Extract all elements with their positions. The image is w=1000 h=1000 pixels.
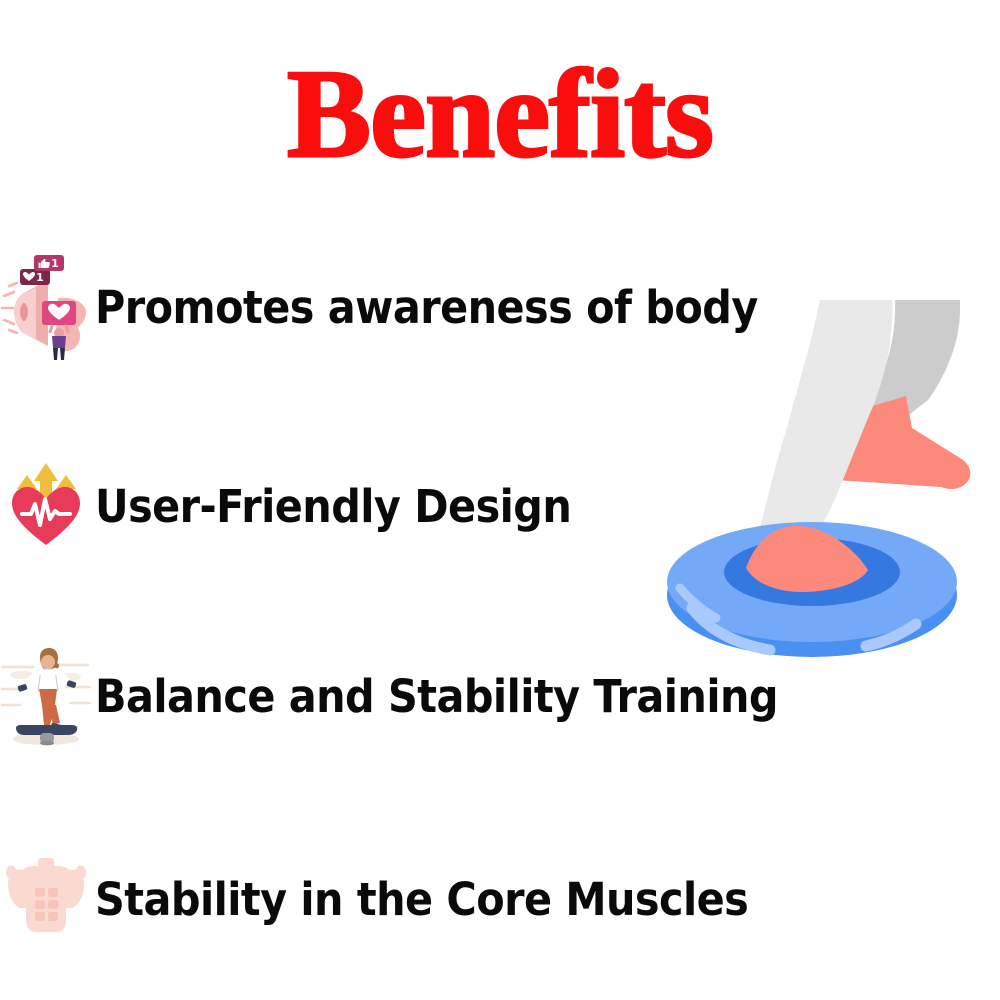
- person-balance-board-icon: [0, 643, 92, 751]
- benefit-label-0: Promotes awareness of body: [95, 284, 758, 331]
- benefit-row-3: Stability in the Core Muscles: [0, 845, 1000, 955]
- benefit-row-2: Balance and Stability Training: [0, 642, 1000, 752]
- benefit-label-1: User-Friendly Design: [95, 483, 571, 530]
- benefit-label-3: Stability in the Core Muscles: [95, 876, 748, 923]
- benefits-poster: Benefits: [0, 0, 1000, 1000]
- muscular-torso-core-icon: [0, 846, 92, 954]
- badge-like-count: 1: [51, 257, 59, 270]
- benefit-label-2: Balance and Stability Training: [95, 673, 778, 720]
- heart-heartbeat-growth-icon: [0, 453, 92, 561]
- page-title: Benefits: [0, 52, 1000, 178]
- badge-heart-count: 1: [36, 271, 44, 284]
- benefit-row-0: 1 1 Promotes awareness of body: [0, 253, 1000, 363]
- benefit-row-1: User-Friendly Design: [0, 452, 1000, 562]
- megaphone-social-engagement-icon: 1 1: [0, 254, 92, 362]
